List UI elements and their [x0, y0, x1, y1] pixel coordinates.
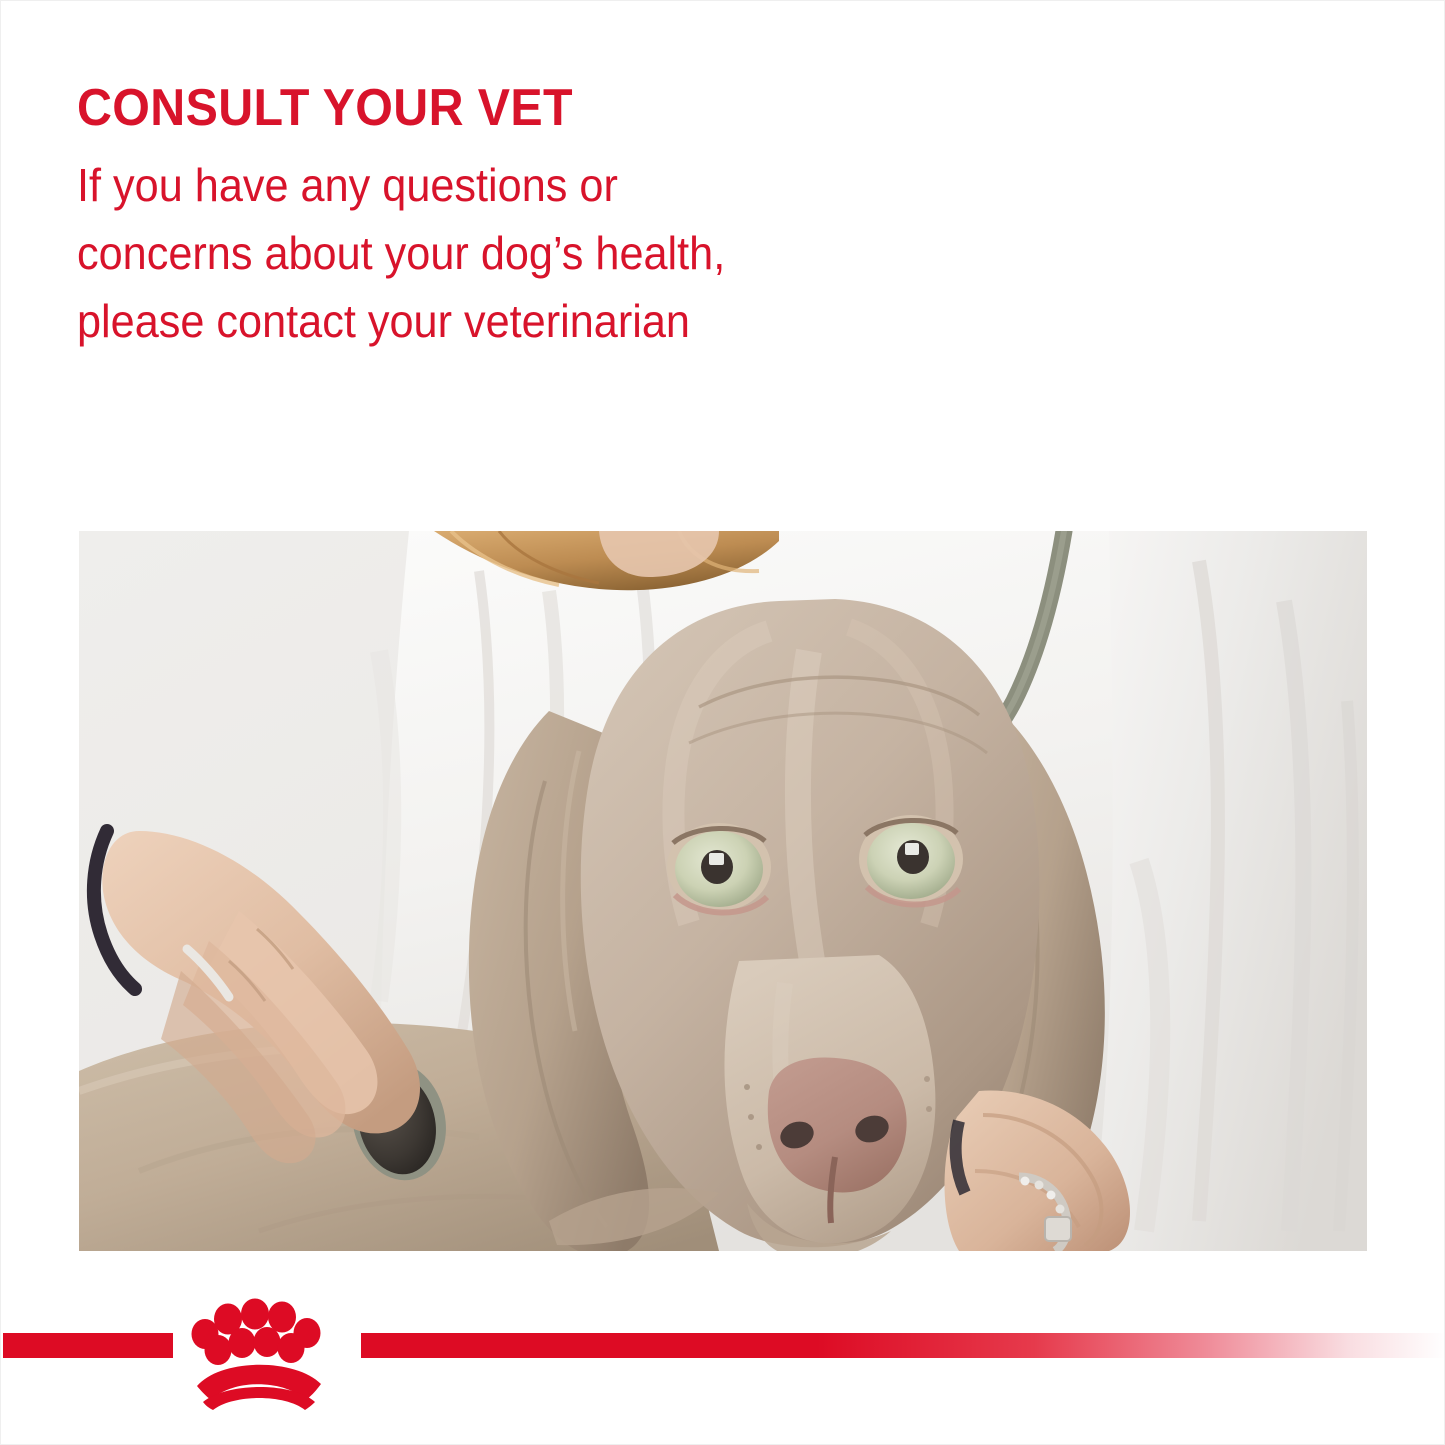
- body-copy-line-1: If you have any questions or: [77, 151, 1017, 219]
- vet-lab-coat-right: [1089, 531, 1367, 1251]
- left-red-bar: [3, 1333, 173, 1358]
- photo-illustration: [79, 531, 1367, 1251]
- poster-page: CONSULT YOUR VET If you have any questio…: [0, 0, 1445, 1445]
- body-copy-line-3: please contact your veterinarian: [77, 287, 1017, 355]
- right-red-bar-gradient: [361, 1333, 1445, 1358]
- message-block: CONSULT YOUR VET If you have any questio…: [77, 79, 1077, 355]
- body-copy-line-2: concerns about your dog’s health,: [77, 219, 1017, 287]
- royal-canin-crown-icon: [187, 1286, 335, 1410]
- footer-brand-band: [1, 1286, 1445, 1416]
- crown-logo-svg: [187, 1286, 335, 1410]
- vet-examination-photo: [79, 531, 1367, 1251]
- body-copy: If you have any questions or concerns ab…: [77, 151, 1017, 355]
- page-title: CONSULT YOUR VET: [77, 79, 1007, 137]
